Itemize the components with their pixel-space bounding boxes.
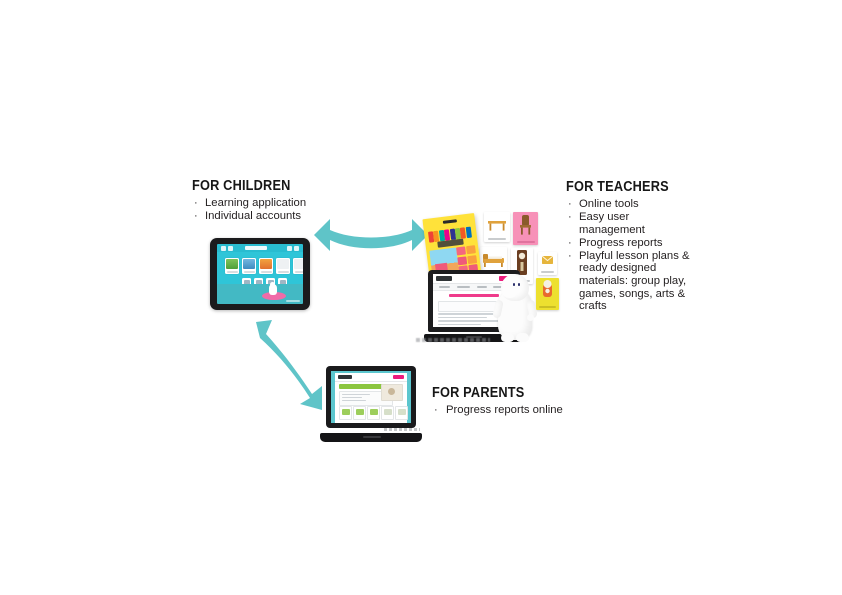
- book-brand-logo: [443, 219, 457, 224]
- card-caption: [244, 271, 255, 273]
- panel-text-line: [342, 397, 362, 398]
- bullet-dot-icon: ·: [194, 210, 198, 223]
- parents-section: FOR PARENTS ·Progress reports online: [432, 385, 622, 417]
- card-caption: [227, 271, 238, 273]
- dashboard-account-button[interactable]: [393, 375, 404, 379]
- flashcard-character: [536, 278, 559, 310]
- dashboard-tile: [381, 406, 394, 420]
- lesson-card: [225, 258, 239, 274]
- teachers-section: FOR TEACHERS ·Online tools ·Easy user ma…: [566, 179, 692, 313]
- portal-text-line: [438, 313, 495, 315]
- app-avatar-icon: [228, 246, 233, 251]
- dashboard-tile: [353, 406, 366, 420]
- tablet-screen: [217, 244, 303, 304]
- card-caption: [261, 271, 272, 273]
- dashboard-header: [335, 373, 407, 382]
- book-title: [428, 224, 473, 240]
- bullet-dot-icon: ·: [568, 211, 572, 224]
- bullet-dot-icon: ·: [568, 237, 572, 250]
- lesson-card: [242, 258, 256, 274]
- plush-eye-right: [518, 283, 520, 286]
- flashcard-caption: [488, 238, 507, 240]
- card-caption: [295, 271, 304, 273]
- teacher-cluster-caption: [416, 338, 490, 342]
- portal-text-line: [438, 317, 487, 319]
- parents-heading: FOR PARENTS: [432, 385, 599, 401]
- tablet-device: [210, 238, 310, 310]
- dashboard-tile: [395, 406, 408, 420]
- app-menu-icon: [221, 246, 226, 251]
- lesson-card: [293, 258, 303, 274]
- panel-text-line: [342, 394, 370, 395]
- card-thumb: [277, 259, 289, 269]
- panel-text-line: [342, 400, 366, 401]
- card-thumb: [243, 259, 255, 269]
- children-section: FOR CHILDREN ·Learning application ·Indi…: [192, 178, 352, 223]
- diagram-canvas: FOR CHILDREN ·Learning application ·Indi…: [0, 0, 842, 595]
- plush-head: [501, 274, 529, 301]
- flashcard-caption: [541, 271, 555, 273]
- card-caption: [278, 271, 289, 273]
- plush-tail: [527, 314, 534, 321]
- lesson-card: [259, 258, 273, 274]
- envelope-icon: [538, 252, 557, 268]
- list-item: ·Progress reports online: [432, 404, 622, 417]
- card-thumb: [260, 259, 272, 269]
- plush-eye-left: [513, 283, 515, 286]
- dashboard-tile: [339, 406, 352, 420]
- list-item-label: Individual accounts: [205, 210, 301, 222]
- portal-page-heading: [449, 294, 498, 297]
- moomin-plush-toy: [494, 274, 536, 342]
- list-item-label: Easy user management: [579, 211, 645, 236]
- bullet-dot-icon: ·: [568, 250, 572, 263]
- card-thumb: [294, 259, 303, 269]
- flashcard-caption: [517, 241, 535, 243]
- laptop-lid: [326, 366, 416, 428]
- list-item-label: Playful lesson plans & ready designed ma…: [579, 250, 690, 312]
- teacher-materials-cluster: [412, 212, 564, 354]
- portal-text-line: [438, 324, 481, 326]
- table-icon: [484, 212, 510, 234]
- teachers-bullet-list: ·Online tools ·Easy user management ·Pro…: [566, 198, 692, 313]
- list-item: ·Playful lesson plans & ready designed m…: [566, 250, 692, 313]
- dashboard-page: [335, 373, 407, 423]
- flashcard-envelope: [538, 252, 557, 275]
- app-credit-text: [286, 300, 300, 302]
- card-thumb: [226, 259, 238, 269]
- list-item: ·Easy user management: [566, 211, 692, 236]
- portal-text-line: [438, 320, 499, 322]
- app-search-icon: [287, 246, 292, 251]
- parents-bullet-list: ·Progress reports online: [432, 404, 622, 417]
- chair-icon: [513, 212, 538, 237]
- laptop-base: [320, 433, 422, 442]
- children-heading: FOR CHILDREN: [192, 178, 333, 194]
- list-item: ·Learning application: [192, 197, 352, 210]
- app-logo: [245, 246, 267, 250]
- flashcard-table: [484, 212, 510, 242]
- parent-laptop-caption: [384, 428, 420, 431]
- list-item-label: Progress reports online: [446, 404, 563, 416]
- child-avatar: [381, 384, 403, 401]
- app-settings-icon: [294, 246, 299, 251]
- list-item-label: Online tools: [579, 198, 639, 210]
- bed-icon: [480, 247, 507, 269]
- character-icon: [536, 278, 559, 303]
- flashcard-chair: [513, 212, 538, 245]
- bullet-dot-icon: ·: [568, 198, 572, 211]
- app-character: [269, 284, 277, 295]
- parent-laptop: [320, 366, 422, 442]
- teachers-heading: FOR TEACHERS: [566, 179, 677, 195]
- dashboard-tile: [367, 406, 380, 420]
- lesson-card: [276, 258, 290, 274]
- list-item: ·Online tools: [566, 198, 692, 211]
- list-item-label: Learning application: [205, 197, 306, 209]
- portal-logo: [436, 276, 452, 281]
- parent-dashboard-screen: [331, 371, 411, 423]
- plush-snout: [502, 286, 517, 298]
- bullet-dot-icon: ·: [434, 404, 438, 417]
- dashboard-logo: [338, 375, 352, 379]
- plush-leg-right: [516, 333, 529, 342]
- plush-leg-left: [501, 333, 514, 342]
- list-item-label: Progress reports: [579, 237, 663, 249]
- flashcard-caption: [539, 306, 556, 308]
- list-item: ·Progress reports: [566, 237, 692, 250]
- bullet-dot-icon: ·: [194, 197, 198, 210]
